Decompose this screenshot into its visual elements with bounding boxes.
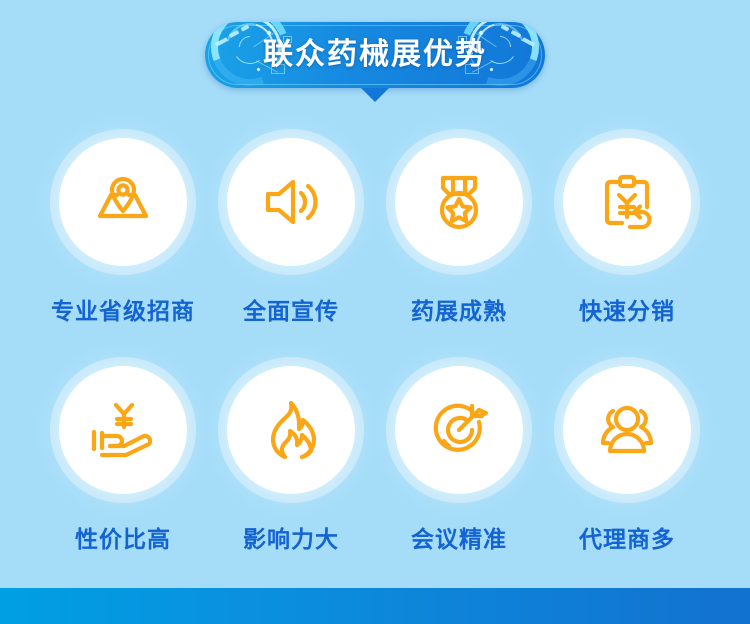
people-group-icon (590, 393, 664, 467)
icon-circle (563, 138, 691, 266)
feature-item-medal[interactable]: 药展成熟 (375, 138, 543, 326)
feature-label: 会议精准 (411, 520, 507, 554)
bottom-gradient-bar (0, 588, 750, 624)
promo-poster: 联众药械展优势 专业省级招商 (0, 0, 750, 624)
title-banner-area: 联众药械展优势 (0, 22, 750, 110)
title-banner: 联众药械展优势 (205, 22, 545, 88)
feature-item-influence[interactable]: 影响力大 (207, 366, 375, 554)
icon-circle (227, 366, 355, 494)
clipboard-yuan-return-icon (590, 165, 664, 239)
feature-item-publicity[interactable]: 全面宣传 (207, 138, 375, 326)
feature-label: 影响力大 (243, 520, 339, 554)
feature-item-agents[interactable]: 代理商多 (543, 366, 711, 554)
medal-star-icon (422, 165, 496, 239)
feature-label: 药展成熟 (411, 292, 507, 326)
banner-notch-icon (361, 88, 389, 102)
feature-row: 专业省级招商 全面宣传 (0, 138, 750, 326)
feature-item-precision[interactable]: 会议精准 (375, 366, 543, 554)
target-arrow-icon (422, 393, 496, 467)
icon-circle (563, 366, 691, 494)
feature-label: 专业省级招商 (51, 292, 195, 326)
speaker-sound-icon (254, 165, 328, 239)
icon-circle (395, 138, 523, 266)
icon-circle (59, 138, 187, 266)
feature-label: 全面宣传 (243, 292, 339, 326)
icon-circle (59, 366, 187, 494)
hand-holding-yuan-icon (86, 393, 160, 467)
feature-item-value[interactable]: 性价比高 (39, 366, 207, 554)
feature-item-map-pin[interactable]: 专业省级招商 (39, 138, 207, 326)
page-title: 联众药械展优势 (205, 22, 545, 88)
feature-label: 代理商多 (579, 520, 675, 554)
feature-row: 性价比高 影响力大 (0, 366, 750, 554)
feature-label: 性价比高 (75, 520, 171, 554)
icon-circle (395, 366, 523, 494)
icon-circle (227, 138, 355, 266)
feature-label: 快速分销 (579, 292, 675, 326)
map-pin-icon (86, 165, 160, 239)
flame-icon (254, 393, 328, 467)
feature-item-distribution[interactable]: 快速分销 (543, 138, 711, 326)
feature-grid: 专业省级招商 全面宣传 (0, 138, 750, 554)
